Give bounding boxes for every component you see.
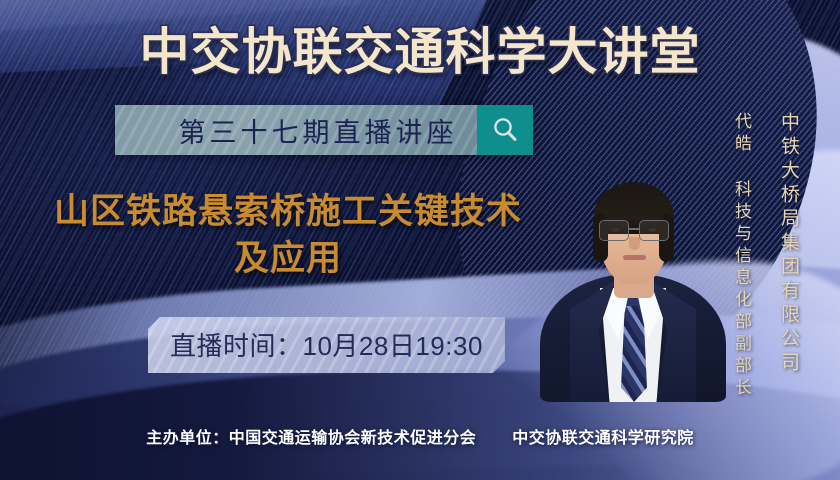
speaker-lens-right [639,220,669,241]
speaker-lens-left [599,220,629,241]
live-lecture-poster: 中交协联交通科学大讲堂 第三十七期直播讲座 山区铁路悬索桥施工关键技术 及应用 … [0,0,840,480]
lecture-topic: 山区铁路悬索桥施工关键技术 及应用 [18,188,558,283]
speaker-organization: 中铁大桥局集团有限公司 [775,112,802,376]
organizers-footer: 主办单位：中国交通运输协会新技术促进分会 中交协联交通科学研究院 [0,424,840,448]
organizer-secondary: 中交协联交通科学研究院 [512,430,694,447]
speaker-nose [629,237,640,250]
broadcast-time-label: 直播时间：10月28日19:30 [170,331,483,361]
speaker-portrait [538,102,728,402]
organizer-primary: 主办单位：中国交通运输协会新技术促进分会 [146,430,476,447]
broadcast-time-badge: 直播时间：10月28日19:30 [148,317,505,373]
episode-search-bar[interactable]: 第三十七期直播讲座 [115,105,533,155]
lecture-topic-line-2: 及应用 [18,235,558,282]
speaker-mouth [623,255,646,260]
episode-field[interactable]: 第三十七期直播讲座 [115,105,477,155]
search-icon [490,115,520,145]
episode-label: 第三十七期直播讲座 [135,111,458,150]
lecture-topic-line-1: 山区铁路悬索桥施工关键技术 [54,192,522,231]
search-button[interactable] [477,105,533,155]
page-title: 中交协联交通科学大讲堂 [0,12,840,84]
speaker-name-and-title: 代皓 科技与信息化部副部长 [729,112,754,400]
